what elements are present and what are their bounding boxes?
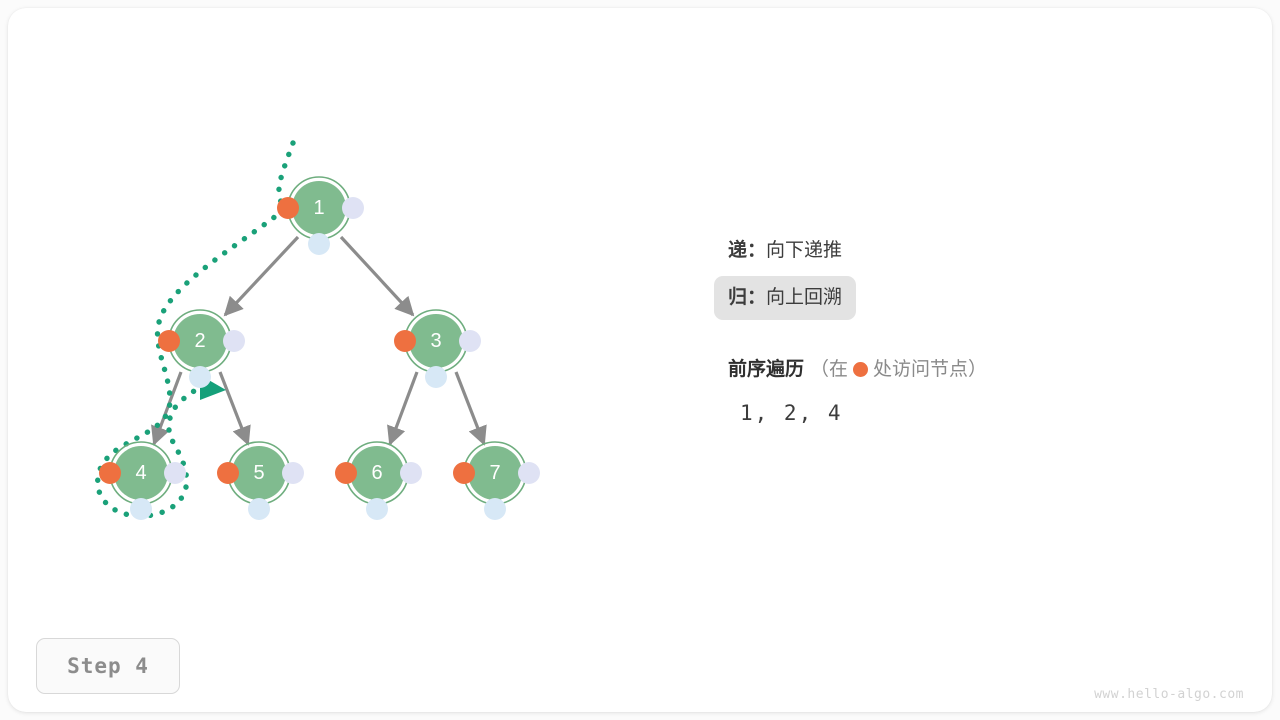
node-bottom-dot (425, 366, 447, 388)
tree-node-7[interactable]: 7 (453, 442, 540, 520)
node-visit-dot (158, 330, 180, 352)
node-right-dot (400, 462, 422, 484)
node-right-dot (518, 462, 540, 484)
node-label: 6 (371, 462, 382, 484)
node-bottom-dot (366, 498, 388, 520)
node-visit-dot (394, 330, 416, 352)
legend-recurse-down-text: 向下递推 (766, 240, 842, 261)
node-label: 5 (253, 462, 264, 484)
node-bottom-dot (189, 366, 211, 388)
edge-2-5 (220, 372, 248, 444)
node-label: 1 (313, 197, 324, 219)
page-root: 1 2 3 (0, 0, 1280, 720)
edge-3-6 (390, 372, 417, 444)
node-bottom-dot (130, 498, 152, 520)
visit-marker-icon (853, 362, 868, 377)
edge-1-3 (341, 237, 413, 315)
tree-node-6[interactable]: 6 (335, 442, 422, 520)
legend-recurse-down-keyword: 递： (728, 240, 766, 261)
node-label: 7 (489, 462, 500, 484)
step-badge: Step 4 (36, 638, 180, 694)
node-label: 3 (430, 330, 441, 352)
traversal-sequence: 1, 2, 4 (740, 401, 1198, 425)
node-bottom-dot (308, 233, 330, 255)
tree-node-5[interactable]: 5 (217, 442, 304, 520)
node-visit-dot (99, 462, 121, 484)
traversal-note-before: （在 (810, 359, 848, 380)
tree-node-3[interactable]: 3 (394, 310, 481, 388)
edge-1-2 (225, 237, 298, 315)
legend-return-up-text: 向上回溯 (766, 287, 842, 308)
edge-3-7 (456, 372, 484, 444)
legend-panel: 递：向下递推 归：向上回溯 前序遍历（在处访问节点） 1, 2, 4 (728, 236, 1198, 425)
tree-nodes: 1 2 3 (99, 177, 540, 520)
site-watermark: www.hello-algo.com (1094, 687, 1244, 702)
node-right-dot (342, 197, 364, 219)
node-label: 2 (194, 330, 205, 352)
node-right-dot (282, 462, 304, 484)
node-right-dot (223, 330, 245, 352)
node-label: 4 (135, 462, 146, 484)
node-visit-dot (277, 197, 299, 219)
traversal-caption: 前序遍历（在处访问节点） (728, 354, 1198, 381)
legend-recurse-down: 递：向下递推 (728, 236, 1198, 266)
node-visit-dot (335, 462, 357, 484)
legend-return-up-keyword: 归： (728, 287, 766, 308)
node-bottom-dot (484, 498, 506, 520)
traversal-title: 前序遍历 (728, 359, 804, 380)
node-visit-dot (217, 462, 239, 484)
legend-return-up: 归：向上回溯 (714, 276, 856, 320)
node-right-dot (164, 462, 186, 484)
node-bottom-dot (248, 498, 270, 520)
node-visit-dot (453, 462, 475, 484)
node-right-dot (459, 330, 481, 352)
tree-node-2[interactable]: 2 (158, 310, 245, 388)
traversal-note-after: 处访问节点） (873, 359, 987, 380)
